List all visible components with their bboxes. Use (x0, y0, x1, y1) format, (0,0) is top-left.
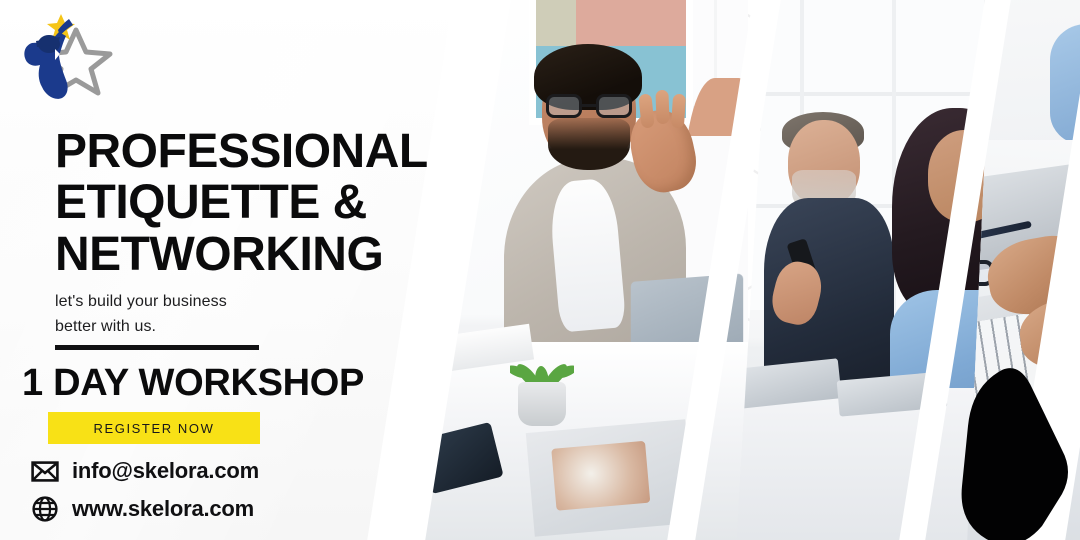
envelope-icon (30, 456, 60, 486)
event-duration-label: 1 DAY WORKSHOP (22, 362, 364, 405)
promo-banner: PROFESSIONAL ETIQUETTE & NETWORKING let'… (0, 0, 1080, 540)
register-now-button[interactable]: REGISTER NOW (48, 412, 260, 444)
contact-details: info@skelora.com www.skelora.com (30, 452, 360, 528)
tagline: let's build your business better with us… (55, 290, 315, 340)
tagline-line-1: let's build your business (55, 290, 315, 315)
text-content-column: PROFESSIONAL ETIQUETTE & NETWORKING let'… (0, 0, 470, 540)
headline-line-2: ETIQUETTE & (55, 177, 475, 228)
black-hexagon-decoration (958, 368, 1070, 540)
page-title: PROFESSIONAL ETIQUETTE & NETWORKING (55, 126, 475, 280)
globe-icon (30, 494, 60, 524)
contact-email-row[interactable]: info@skelora.com (30, 452, 360, 490)
headline-line-1: PROFESSIONAL (55, 126, 475, 177)
contact-email-value: info@skelora.com (72, 458, 259, 484)
contact-website-row[interactable]: www.skelora.com (30, 490, 360, 528)
divider-rule (55, 345, 259, 350)
graduate-star-logo (14, 8, 118, 112)
eyeglasses-detail (544, 94, 636, 118)
tagline-line-2: better with us. (55, 315, 315, 340)
contact-website-value: www.skelora.com (72, 496, 254, 522)
headline-line-3: NETWORKING (55, 229, 475, 280)
